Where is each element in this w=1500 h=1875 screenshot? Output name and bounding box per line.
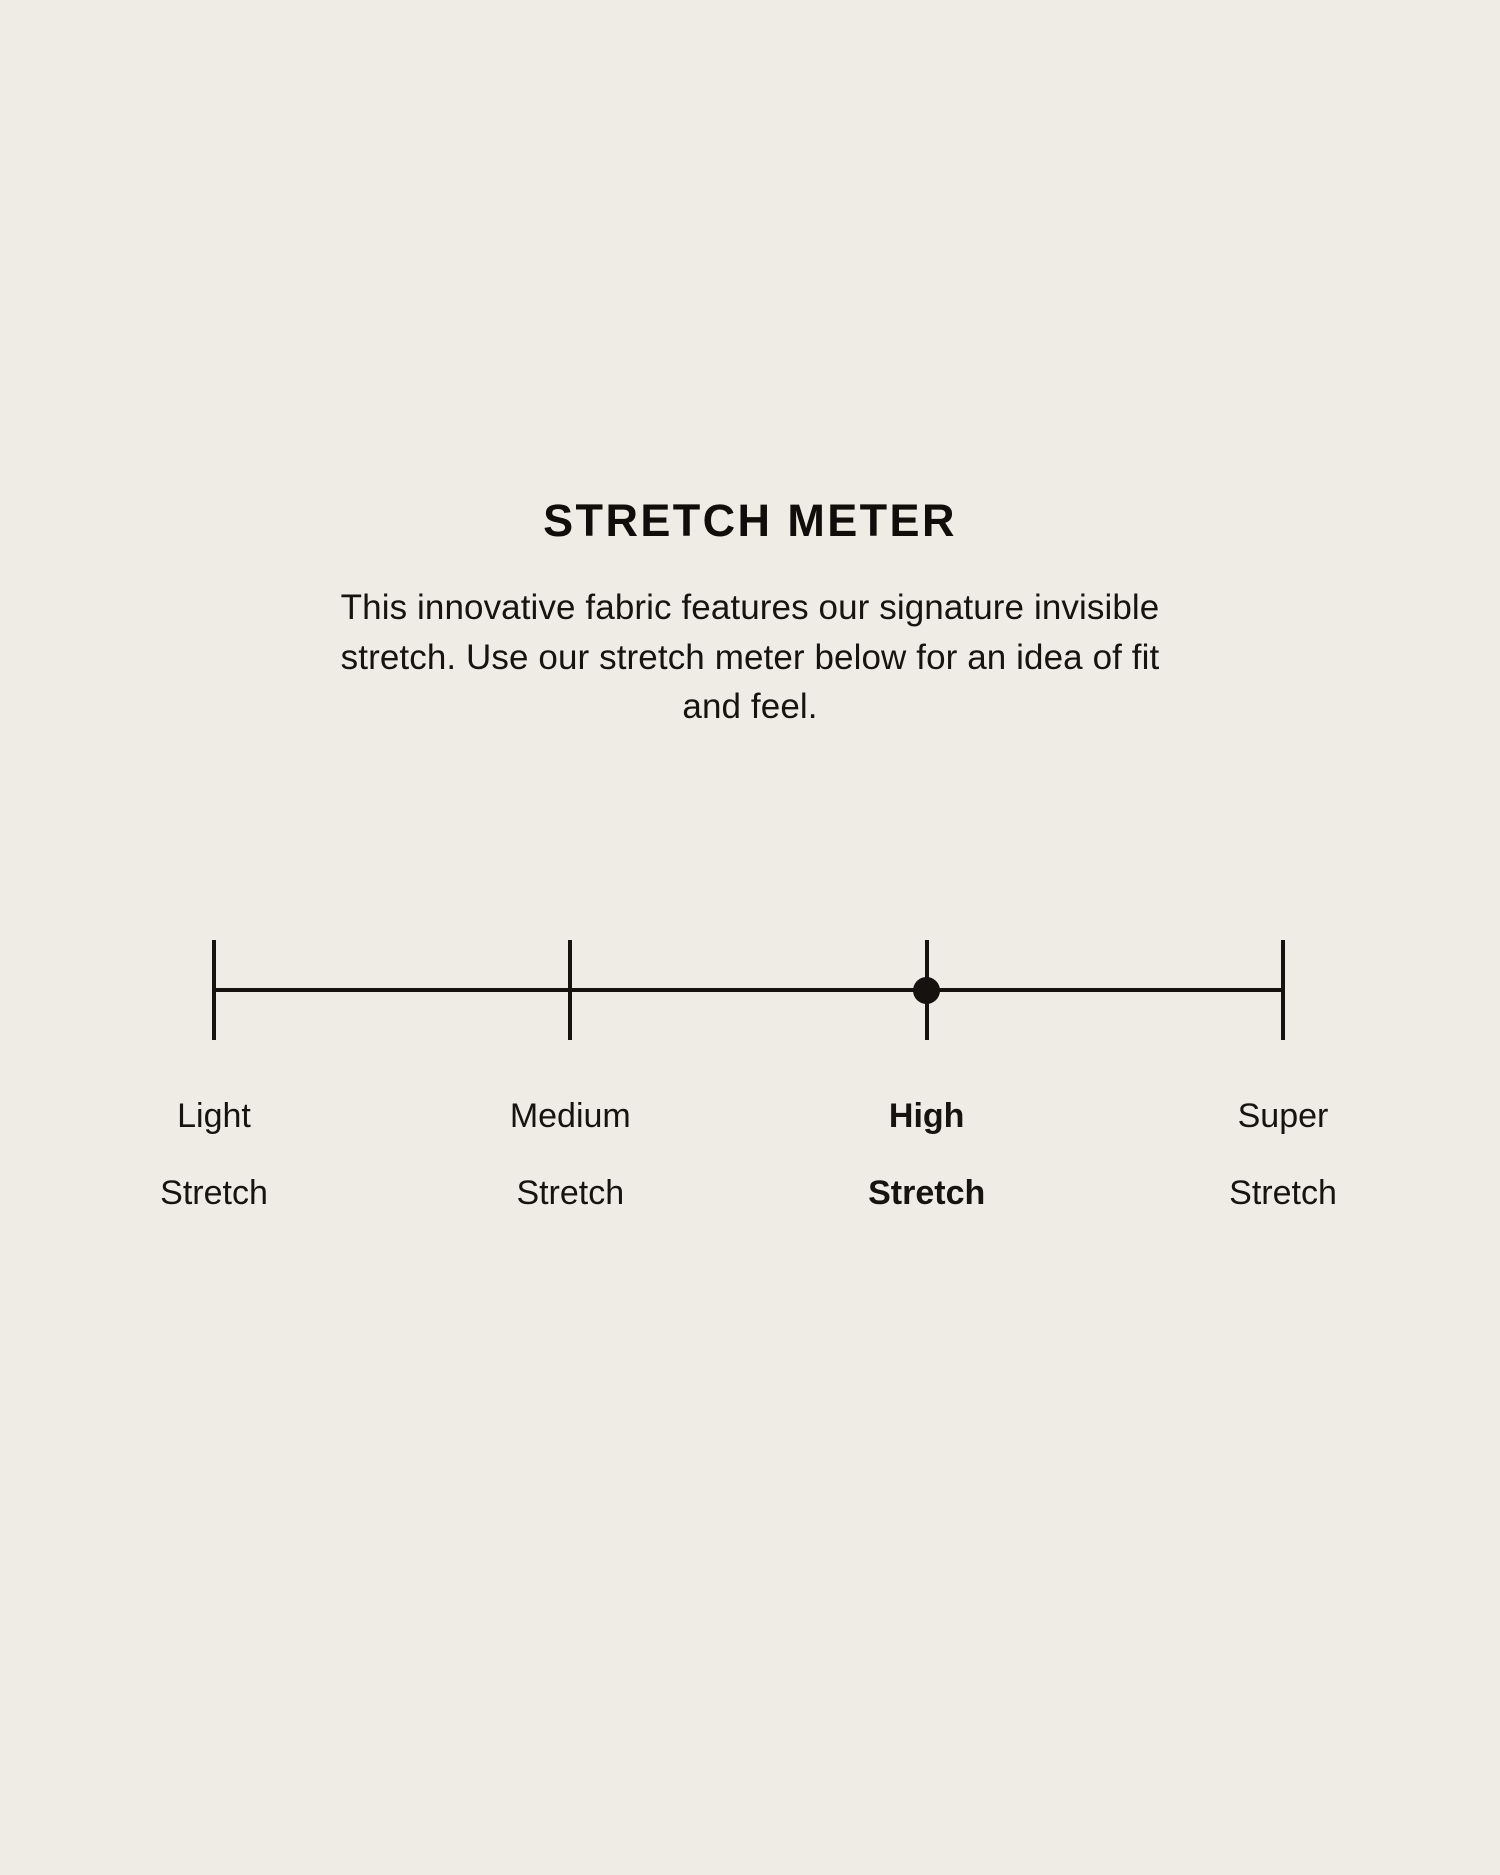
meter-label-super-line2: Stretch — [1229, 1174, 1337, 1212]
meter-label-super: Super Stretch — [1133, 1058, 1433, 1213]
meter-tick-super — [1281, 940, 1285, 1040]
meter-label-light-line2: Stretch — [160, 1174, 268, 1212]
header-block: STRETCH METER This innovative fabric fea… — [0, 497, 1500, 731]
meter-label-medium: Medium Stretch — [420, 1058, 720, 1213]
meter-label-light: Light Stretch — [64, 1058, 364, 1213]
stretch-meter-scale: Light Stretch Medium Stretch High Stretc… — [214, 940, 1283, 1130]
meter-label-high-line1: High — [889, 1097, 965, 1135]
meter-label-high-line2: Stretch — [868, 1174, 985, 1212]
stretch-meter-page: STRETCH METER This innovative fabric fea… — [0, 0, 1500, 1875]
meter-label-light-line1: Light — [177, 1097, 251, 1135]
meter-label-medium-line1: Medium — [510, 1097, 631, 1135]
meter-label-medium-line2: Stretch — [516, 1174, 624, 1212]
meter-label-super-line1: Super — [1238, 1097, 1329, 1135]
meter-tick-medium — [568, 940, 572, 1040]
page-title: STRETCH METER — [0, 497, 1500, 544]
stretch-level-marker-dot — [913, 977, 940, 1004]
meter-axis-line — [214, 988, 1283, 992]
page-description: This innovative fabric features our sign… — [335, 544, 1165, 731]
meter-label-high: High Stretch — [777, 1058, 1077, 1213]
meter-tick-light — [212, 940, 216, 1040]
